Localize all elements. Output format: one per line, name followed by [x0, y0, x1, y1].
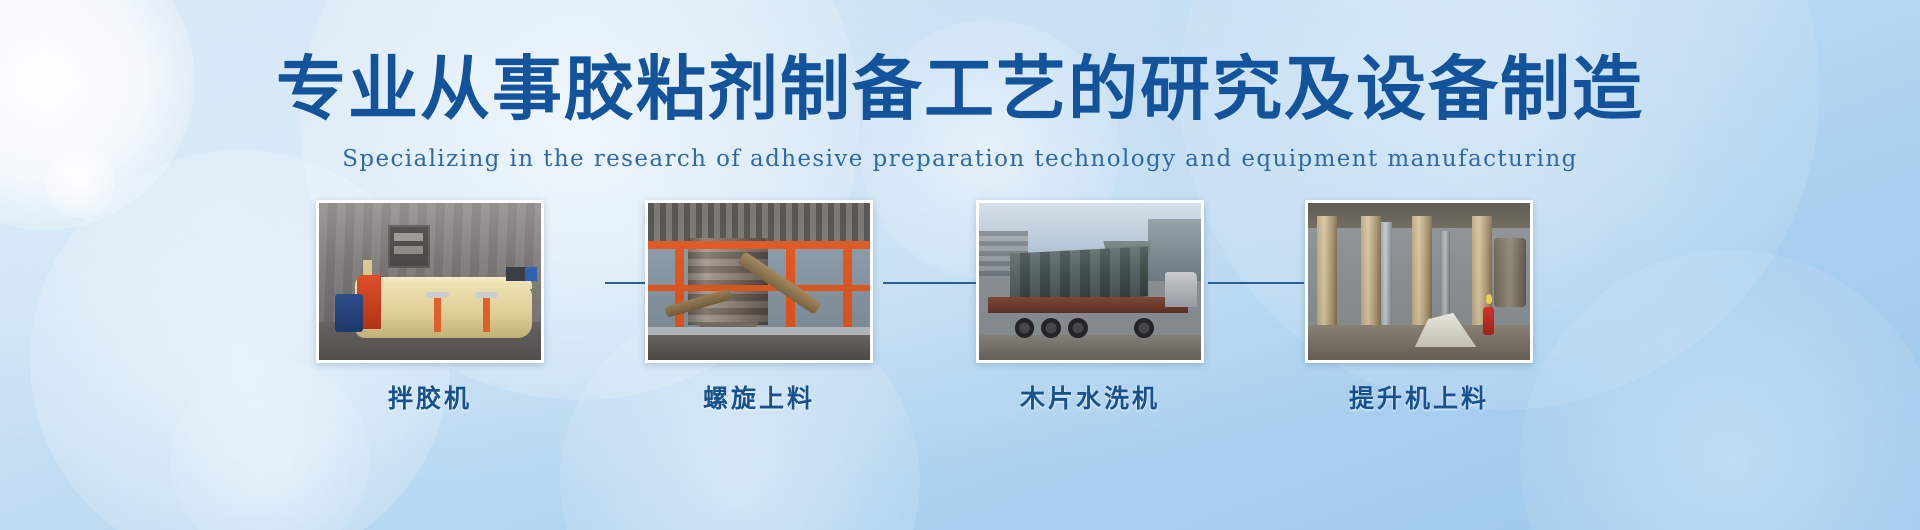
photo1-control-panel	[388, 225, 430, 268]
photo2-pipe	[648, 327, 870, 335]
photo1-blue-unit	[525, 267, 536, 281]
photo1-valve-1	[434, 297, 441, 332]
photo1-motor	[335, 294, 364, 332]
photo3-truck-bed	[988, 297, 1188, 313]
process-step-4[interactable]: 提升机上料	[1305, 200, 1533, 415]
photo1-valve-2	[483, 297, 490, 332]
photo2-ground	[648, 335, 870, 360]
promo-banner: 专业从事胶粘剂制备工艺的研究及设备制造 Specializing in the …	[0, 0, 1920, 530]
process-step-2[interactable]: 螺旋上料	[645, 200, 873, 415]
process-step-4-caption: 提升机上料	[1305, 379, 1533, 415]
process-step-1-caption: 拌胶机	[316, 379, 544, 415]
process-step-1[interactable]: 拌胶机	[316, 200, 544, 415]
connector-line-2	[883, 282, 978, 284]
process-step-3[interactable]: 木片水洗机	[976, 200, 1204, 415]
photo4-elevator-pipe-1	[1381, 222, 1392, 335]
photo2-silo	[688, 238, 768, 326]
photo4-tank	[1494, 238, 1525, 307]
process-step-2-caption: 螺旋上料	[645, 379, 873, 415]
process-flow: 拌胶机 螺旋上料	[0, 200, 1920, 430]
photo4-elevator-pipe-2	[1441, 231, 1450, 328]
photo1-mixer-tank	[355, 282, 533, 339]
photo1-junction-box	[506, 267, 528, 281]
process-step-3-caption: 木片水洗机	[976, 379, 1204, 415]
photo4-worker-helmet	[1486, 294, 1492, 304]
photo3-ground	[979, 335, 1201, 360]
glue-mixer-photo[interactable]	[316, 200, 544, 363]
bucket-elevator-feeding-photo[interactable]	[1305, 200, 1533, 363]
photo4-worker	[1483, 294, 1494, 335]
spiral-feeder-photo[interactable]	[645, 200, 873, 363]
photo4-worker-body	[1483, 307, 1494, 335]
photo3-wheel-3	[1068, 318, 1088, 338]
photo3-washer-body	[1010, 246, 1148, 303]
photo3-truck-cab	[1165, 272, 1196, 307]
wood-chip-washer-photo[interactable]	[976, 200, 1204, 363]
banner-subtitle: Specializing in the research of adhesive…	[0, 146, 1920, 172]
banner-headline: 专业从事胶粘剂制备工艺的研究及设备制造	[0, 54, 1920, 124]
connector-line-3	[1208, 282, 1304, 284]
